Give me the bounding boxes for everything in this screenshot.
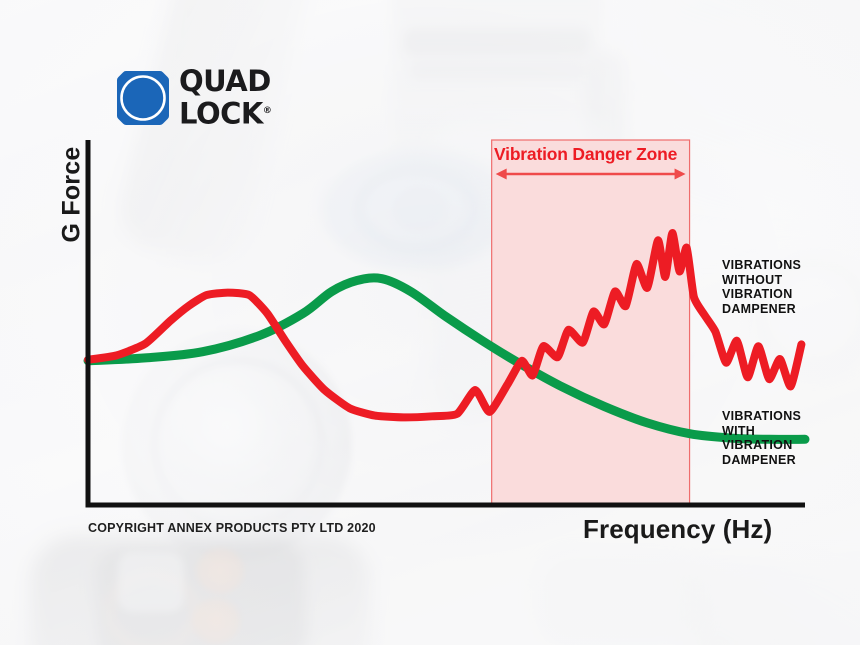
logo-line-lock: LOCK® bbox=[179, 96, 271, 129]
quad-lock-octagon-icon bbox=[113, 68, 173, 128]
label-line: WITHOUT bbox=[722, 273, 801, 288]
label-line: VIBRATION bbox=[722, 287, 801, 302]
quad-lock-wordmark: QUAD LOCK® bbox=[179, 66, 271, 129]
quad-lock-logo: QUAD LOCK® bbox=[113, 66, 273, 132]
label-line: DAMPENER bbox=[722, 302, 801, 317]
y-axis-label: G Force bbox=[58, 115, 87, 275]
danger-zone-label: Vibration Danger Zone bbox=[494, 144, 677, 165]
x-axis-label: Frequency (Hz) bbox=[583, 514, 772, 545]
series-without-dampener bbox=[88, 233, 801, 417]
label-line: DAMPENER bbox=[722, 453, 801, 468]
infographic-canvas: QUAD LOCK® G Force Frequency (Hz) COPYRI… bbox=[0, 0, 860, 645]
axis-lines bbox=[88, 140, 805, 505]
series-label-with-dampener: VIBRATIONS WITH VIBRATION DAMPENER bbox=[722, 409, 801, 467]
registered-mark: ® bbox=[263, 106, 272, 116]
label-line: VIBRATIONS bbox=[722, 258, 801, 273]
label-line: WITH bbox=[722, 424, 801, 439]
label-line: VIBRATION bbox=[722, 438, 801, 453]
label-line: VIBRATIONS bbox=[722, 409, 801, 424]
series-label-without-dampener: VIBRATIONS WITHOUT VIBRATION DAMPENER bbox=[722, 258, 801, 316]
logo-line-quad: QUAD bbox=[179, 66, 271, 96]
copyright-text: COPYRIGHT ANNEX PRODUCTS PTY LTD 2020 bbox=[88, 521, 376, 535]
